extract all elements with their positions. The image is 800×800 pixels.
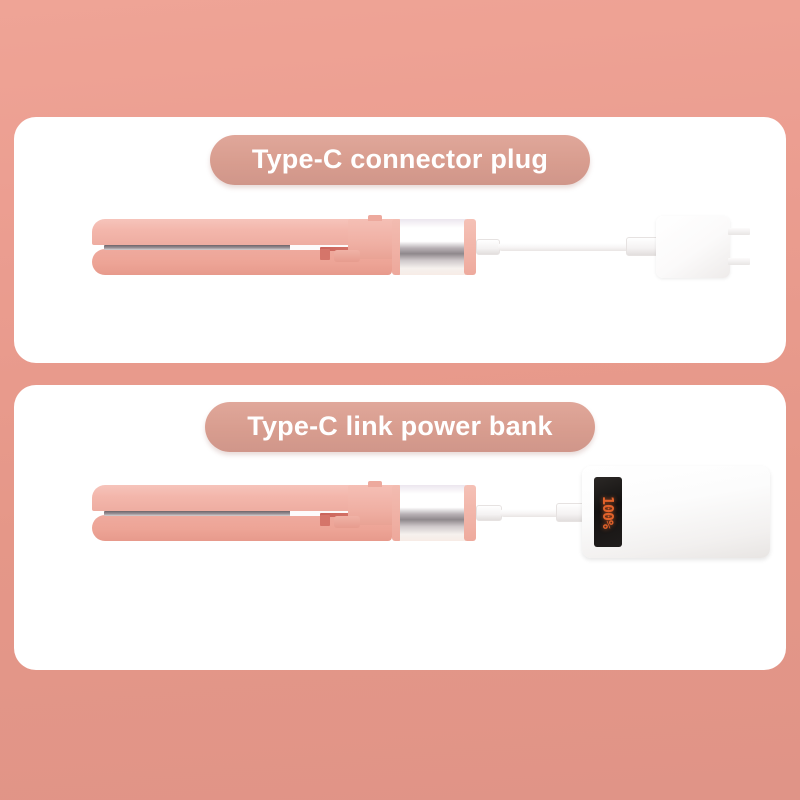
straightener-metallic-barrel — [400, 219, 466, 275]
straightener-power-switch — [334, 250, 360, 262]
straightener-metallic-barrel — [400, 485, 466, 541]
charging-cable — [498, 243, 634, 251]
portable-power-bank: 100% — [582, 466, 770, 558]
straightener-hinge-nub — [368, 481, 382, 487]
straightener-red-tab — [320, 515, 330, 526]
charging-cable — [500, 509, 562, 517]
product-scene-plug — [14, 117, 786, 363]
card-type-c-link-power-bank: Type-C link power bank 100% — [14, 385, 786, 670]
hair-straightener-plug — [82, 219, 482, 275]
straightener-top-arm — [92, 219, 392, 245]
usb-wall-charger-adapter — [656, 216, 730, 278]
hair-straightener-powerbank — [82, 485, 482, 541]
product-scene-powerbank: 100% — [14, 385, 786, 670]
straightener-hinge-nub — [368, 215, 382, 221]
usb-a-connector-adapter-end — [626, 237, 660, 256]
power-bank-battery-percentage: 100% — [599, 496, 617, 528]
card-type-c-connector-plug: Type-C connector plug *Suggest us — [14, 117, 786, 363]
type-c-connector-device-end — [476, 505, 502, 521]
straightener-power-switch — [334, 516, 360, 528]
power-bank-led-display: 100% — [594, 477, 622, 547]
straightener-red-tab — [320, 249, 330, 260]
type-c-connector-device-end — [476, 239, 500, 255]
adapter-prong-bottom — [728, 258, 750, 265]
straightener-ring-right — [464, 485, 476, 541]
straightener-top-arm — [92, 485, 392, 511]
straightener-ring-right — [464, 219, 476, 275]
adapter-prong-top — [728, 228, 750, 235]
